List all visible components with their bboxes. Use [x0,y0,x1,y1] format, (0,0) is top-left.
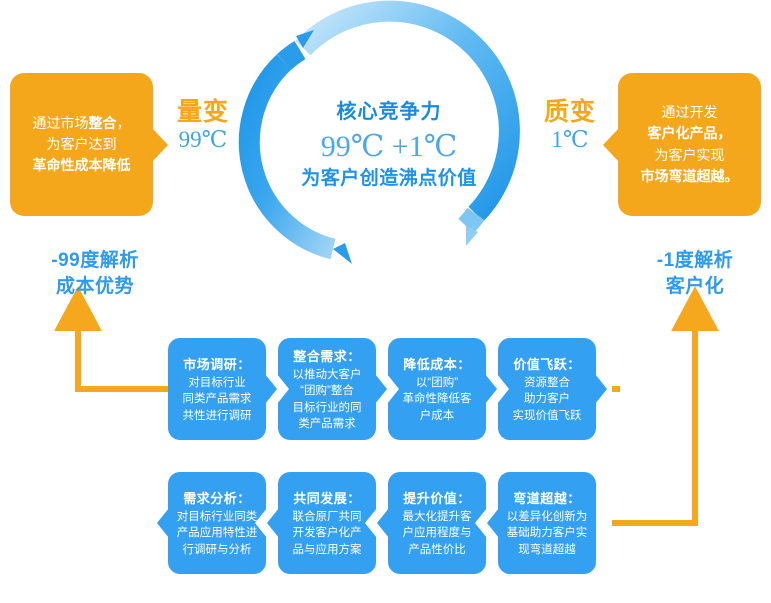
process-step[interactable]: 整合需求： 以推动大客户“团购”整合目标行业的同类产品需求 [278,338,376,440]
process-step-body: 对目标行业同类产品需求共性进行调研 [183,375,252,424]
process-step-box[interactable]: 提升价值： 最大化提升客户应用程度与产品性价比 [388,472,486,574]
chevron-right-icon [595,374,607,404]
analysis-left: -99度解析 成本优势 [20,248,170,299]
callout-right: 通过开发 客户化产品， 为客户实现 市场弯道超越。 [618,73,761,216]
process-step-body: 最大化提升客户应用程度与产品性价比 [403,509,472,558]
process-step-head: 价值飞跃： [513,354,581,373]
callout-left-line1: 通过市场整合， [33,113,131,134]
core-circle: 核心竞争力 99℃ +1℃ 为客户创造沸点价值 [265,22,513,270]
chevron-left-icon [267,508,279,538]
core-title: 核心竞争力 [337,100,442,126]
process-step-head: 市场调研： [183,354,251,373]
process-step-head: 需求分析： [183,488,251,507]
process-step-box[interactable]: 降低成本： 以“团购”革命性降低客户成本 [388,338,486,440]
process-step-head: 整合需求： [293,346,361,365]
chevron-notch-icon [497,374,509,404]
chevron-notch-icon [277,374,289,404]
process-step-box[interactable]: 需求分析： 对目标行业同类产品应用特性进行调研与分析 [168,472,266,574]
analysis-right: -1度解析 客户化 [625,248,765,299]
callout-right-line1: 通过开发 [662,102,718,123]
callout-right-line3: 为客户实现 [655,145,725,166]
chevron-notch-icon [387,374,399,404]
process-step-box[interactable]: 市场调研： 对目标行业同类产品需求共性进行调研 [168,338,266,440]
callout-left-line1-tail: ， [117,115,131,131]
core-subtitle: 为客户创造沸点价值 [301,167,477,191]
phase-left: 量变 99℃ [163,98,243,153]
process-step[interactable]: 提升价值： 最大化提升客户应用程度与产品性价比 [388,472,486,574]
process-step-body: 以推动大客户“团购”整合目标行业的同类产品需求 [293,367,362,432]
chevron-right-icon [485,374,497,404]
chevron-notch-icon [255,508,267,538]
callout-right-line4: 市场弯道超越。 [641,166,739,187]
chevron-notch-icon [475,508,487,538]
process-step-body: 以“团购”革命性降低客户成本 [403,375,472,424]
analysis-right-line1: -1度解析 [625,248,765,274]
process-row-1: 市场调研： 对目标行业同类产品需求共性进行调研 整合需求： 以推动大客户“团购”… [168,338,596,440]
callout-left-line3: 革命性成本降低 [33,155,131,176]
process-step-head: 共同发展： [293,488,361,507]
process-step-body: 对目标行业同类产品应用特性进行调研与分析 [177,509,258,558]
process-row-2: 需求分析： 对目标行业同类产品应用特性进行调研与分析 共同发展： 联合原厂共同开… [168,472,596,574]
phase-left-label: 量变 [163,98,243,127]
callout-left-line2: 为客户达到 [47,134,117,155]
process-step-head: 降低成本： [403,354,471,373]
process-step[interactable]: 市场调研： 对目标行业同类产品需求共性进行调研 [168,338,266,440]
core-formula: 99℃ +1℃ [321,128,458,166]
callout-left-line1-bold: 整合 [89,115,117,131]
phase-right: 质变 1℃ [530,98,610,153]
phase-left-value: 99℃ [163,127,243,153]
chevron-right-icon [265,374,277,404]
callout-left: 通过市场整合， 为客户达到 革命性成本降低 [10,73,153,216]
analysis-right-line2: 客户化 [625,274,765,300]
chevron-notch-icon [365,508,377,538]
process-step[interactable]: 降低成本： 以“团购”革命性降低客户成本 [388,338,486,440]
process-step-box[interactable]: 整合需求： 以推动大客户“团购”整合目标行业的同类产品需求 [278,338,376,440]
chevron-left-icon [487,508,499,538]
phase-right-value: 1℃ [530,127,610,153]
process-step-body: 联合原厂共同开发客户化产品与应用方案 [293,509,362,558]
process-step-box[interactable]: 价值飞跃： 资源整合助力客户实现价值飞跃 [498,338,596,440]
callout-right-line2: 客户化产品， [648,123,732,144]
process-step-body: 资源整合助力客户实现价值飞跃 [513,375,582,424]
callout-left-line1-plain: 通过市场 [33,115,89,131]
process-step-head: 提升价值： [403,488,471,507]
phase-right-label: 质变 [530,98,610,127]
process-step-head: 弯道超越： [513,488,581,507]
process-step-box[interactable]: 共同发展： 联合原厂共同开发客户化产品与应用方案 [278,472,376,574]
analysis-left-line2: 成本优势 [20,274,170,300]
process-step-box[interactable]: 弯道超越： 以差异化创新为基础助力客户实现弯道超越 [498,472,596,574]
chevron-left-icon [377,508,389,538]
core-circle-text: 核心竞争力 99℃ +1℃ 为客户创造沸点价值 [265,22,513,270]
process-step[interactable]: 弯道超越： 以差异化创新为基础助力客户实现弯道超越 [498,472,596,574]
infographic-canvas: 核心竞争力 99℃ +1℃ 为客户创造沸点价值 通过市场整合， 为客户达到 革命… [0,0,771,603]
process-step-body: 以差异化创新为基础助力客户实现弯道超越 [507,509,588,558]
chevron-left-icon [157,508,169,538]
analysis-left-line1: -99度解析 [20,248,170,274]
chevron-right-icon [375,374,387,404]
process-step[interactable]: 需求分析： 对目标行业同类产品应用特性进行调研与分析 [168,472,266,574]
process-step[interactable]: 共同发展： 联合原厂共同开发客户化产品与应用方案 [278,472,376,574]
process-step[interactable]: 价值飞跃： 资源整合助力客户实现价值飞跃 [498,338,596,440]
